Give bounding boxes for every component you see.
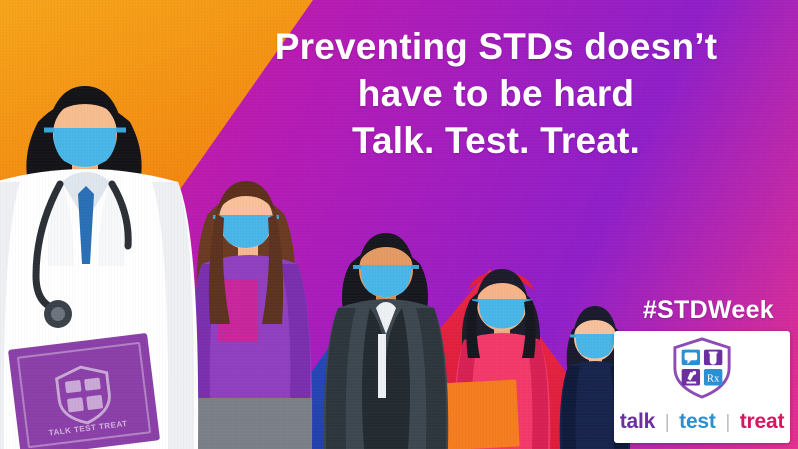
doctor-clipboard-prop: TALK TEST TREAT	[8, 333, 160, 449]
shield-icon: Rx	[671, 337, 733, 399]
talk-test-treat-logo-card: Rx talk | test | treat talk-test-treat s…	[614, 331, 790, 443]
logo-separator-1: |	[661, 412, 674, 433]
clipboard-shield-icon	[49, 360, 118, 429]
shield-logo-alt-text: talk-test-treat shield logo	[614, 331, 615, 332]
logo-wordmark: talk | test | treat	[614, 410, 790, 434]
headline-line-1: Preventing STDs doesn’t	[216, 24, 776, 71]
svg-text:Rx: Rx	[707, 374, 720, 385]
logo-separator-2: |	[721, 412, 734, 433]
headline-line-3: Talk. Test. Treat.	[216, 118, 776, 165]
logo-shield-wrapper: Rx	[671, 337, 733, 399]
headline-line-2: have to be hard	[216, 71, 776, 118]
poster-image: TALK TEST TREAT Preventing STDs doesn’t …	[0, 0, 798, 449]
hashtag-text: #STDWeek	[643, 296, 774, 325]
headline: Preventing STDs doesn’t have to be hard …	[216, 24, 776, 165]
logo-word-treat: treat	[740, 410, 785, 433]
figure-man-grey	[318, 222, 478, 449]
logo-word-test: test	[679, 410, 716, 433]
logo-word-talk: talk	[620, 410, 655, 433]
